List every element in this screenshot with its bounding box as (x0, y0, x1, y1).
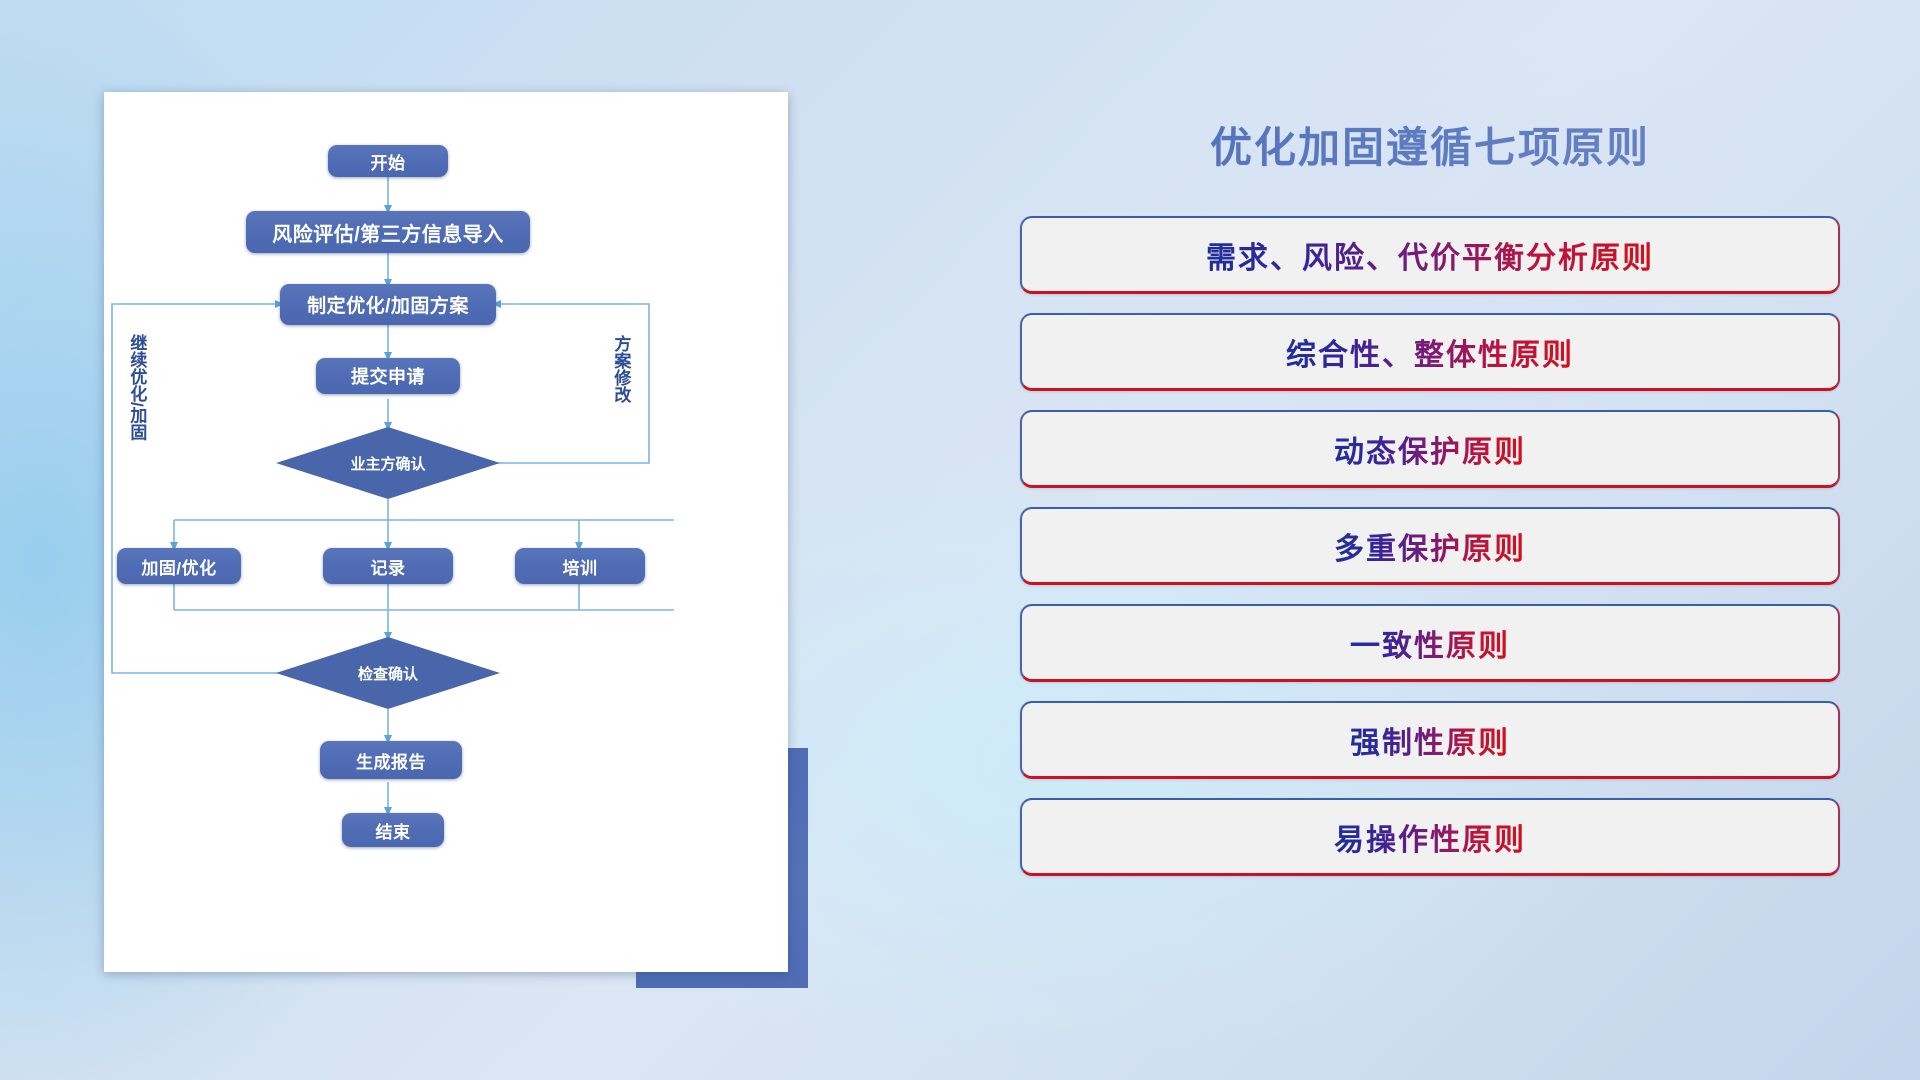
flow-node-label: 记录 (371, 554, 406, 579)
principle-label: 易操作性原则 (1334, 815, 1526, 859)
flow-node-submit-application[interactable]: 提交申请 (316, 358, 460, 394)
principle-item-1[interactable]: 需求、风险、代价平衡分析原则 (1020, 216, 1840, 294)
flow-node-start[interactable]: 开始 (328, 145, 448, 177)
principle-item-5[interactable]: 一致性原则 (1020, 604, 1840, 682)
flow-node-label: 风险评估/第三方信息导入 (272, 218, 504, 247)
principle-label: 强制性原则 (1350, 718, 1510, 762)
flow-node-generate-report[interactable]: 生成报告 (320, 741, 462, 779)
principle-label: 动态保护原则 (1334, 427, 1526, 471)
flow-node-label: 生成报告 (356, 748, 426, 773)
flow-node-label: 提交申请 (351, 363, 425, 389)
principles-list: 需求、风险、代价平衡分析原则 综合性、整体性原则 动态保护原则 多重保护原则 一… (1020, 216, 1840, 895)
flow-node-end[interactable]: 结束 (342, 813, 444, 847)
edge-label-continue-optimize: 继续优化/加固 (128, 334, 145, 494)
principle-item-7[interactable]: 易操作性原则 (1020, 798, 1840, 876)
principle-label: 综合性、整体性原则 (1286, 330, 1574, 374)
principle-label: 多重保护原则 (1334, 524, 1526, 568)
flow-node-label: 检查确认 (358, 663, 418, 684)
principle-label: 需求、风险、代价平衡分析原则 (1206, 233, 1654, 277)
principle-label: 一致性原则 (1350, 621, 1510, 665)
flow-node-record[interactable]: 记录 (323, 548, 453, 584)
flow-node-make-plan[interactable]: 制定优化/加固方案 (280, 284, 496, 325)
slide-canvas: 开始 风险评估/第三方信息导入 制定优化/加固方案 提交申请 业主方确认 加固/… (0, 0, 1920, 1080)
principle-item-3[interactable]: 动态保护原则 (1020, 410, 1840, 488)
principle-item-2[interactable]: 综合性、整体性原则 (1020, 313, 1840, 391)
edge-label-plan-revision: 方案修改 (612, 335, 629, 455)
flow-node-label: 业主方确认 (350, 453, 425, 474)
principle-item-6[interactable]: 强制性原则 (1020, 701, 1840, 779)
flow-node-training[interactable]: 培训 (515, 548, 645, 584)
flow-node-label: 制定优化/加固方案 (307, 291, 469, 318)
flow-node-label: 结束 (376, 818, 411, 843)
flow-node-label: 加固/优化 (141, 554, 216, 579)
principle-item-4[interactable]: 多重保护原则 (1020, 507, 1840, 585)
flowchart-card: 开始 风险评估/第三方信息导入 制定优化/加固方案 提交申请 业主方确认 加固/… (104, 92, 788, 972)
flow-node-label: 培训 (563, 554, 598, 579)
flow-node-reinforce-optimize[interactable]: 加固/优化 (117, 548, 241, 584)
principles-panel: 优化加固遵循七项原则 需求、风险、代价平衡分析原则 综合性、整体性原则 动态保护… (1020, 100, 1840, 1000)
panel-title: 优化加固遵循七项原则 (1020, 114, 1840, 175)
flow-node-label: 开始 (371, 149, 406, 174)
flow-node-risk-assessment[interactable]: 风险评估/第三方信息导入 (246, 211, 530, 253)
